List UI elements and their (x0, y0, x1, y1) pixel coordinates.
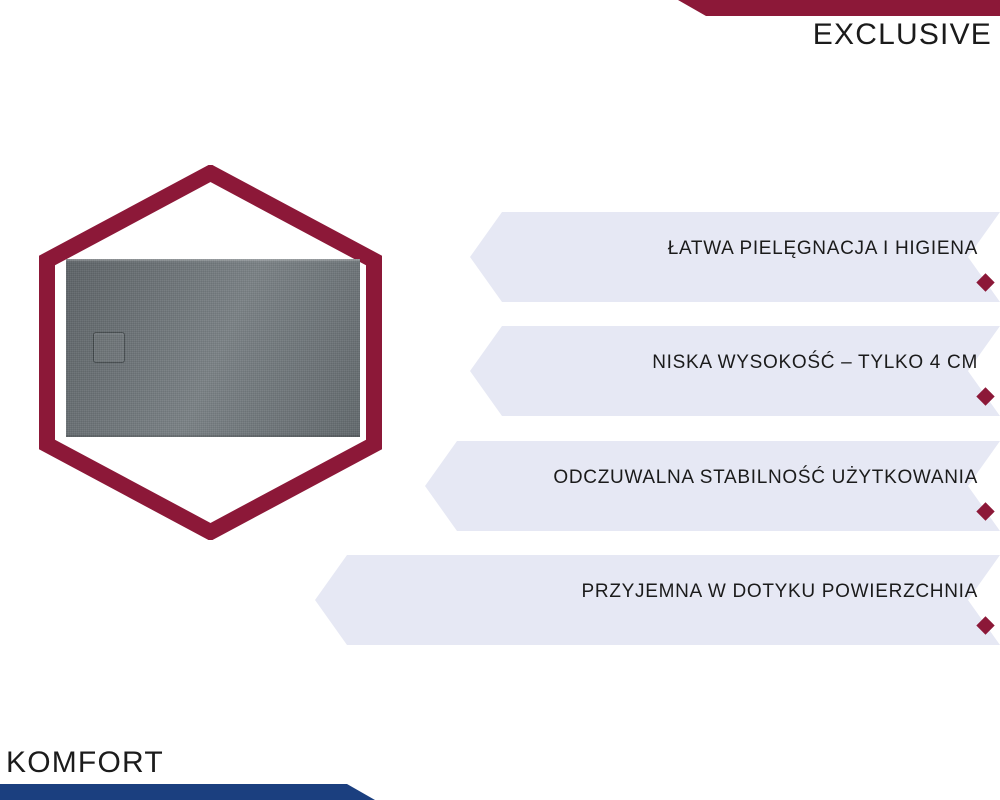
feature-banner-1: ŁATWA PIELĘGNACJA I HIGIENA (470, 212, 1000, 302)
tray-bottom-shadow (66, 434, 360, 437)
feature-banner-3: ODCZUWALNA STABILNOŚĆ UŻYTKOWANIA (425, 441, 1000, 531)
page-title-exclusive: EXCLUSIVE (813, 20, 992, 50)
feature-banner-4: PRZYJEMNA W DOTYKU POWIERZCHNIA (315, 555, 1000, 645)
bottom-accent-bar (0, 784, 375, 800)
page-title-komfort: KOMFORT (6, 748, 164, 778)
square-drain-cover-icon (93, 332, 125, 363)
shower-tray-image (66, 259, 360, 437)
product-feature-slide: EXCLUSIVE ŁATWA PIELĘGNACJA I HIGIENA NI… (0, 0, 1000, 800)
feature-banner-2: NISKA WYSOKOŚĆ – TYLKO 4 CM (470, 326, 1000, 416)
feature-label-3: ODCZUWALNA STABILNOŚĆ UŻYTKOWANIA (425, 467, 978, 489)
feature-label-4: PRZYJEMNA W DOTYKU POWIERZCHNIA (315, 581, 978, 603)
tray-top-highlight (66, 259, 360, 262)
product-hexagon-frame (38, 165, 383, 540)
feature-label-1: ŁATWA PIELĘGNACJA I HIGIENA (470, 238, 978, 260)
top-accent-bar (678, 0, 1000, 16)
feature-label-2: NISKA WYSOKOŚĆ – TYLKO 4 CM (470, 352, 978, 374)
